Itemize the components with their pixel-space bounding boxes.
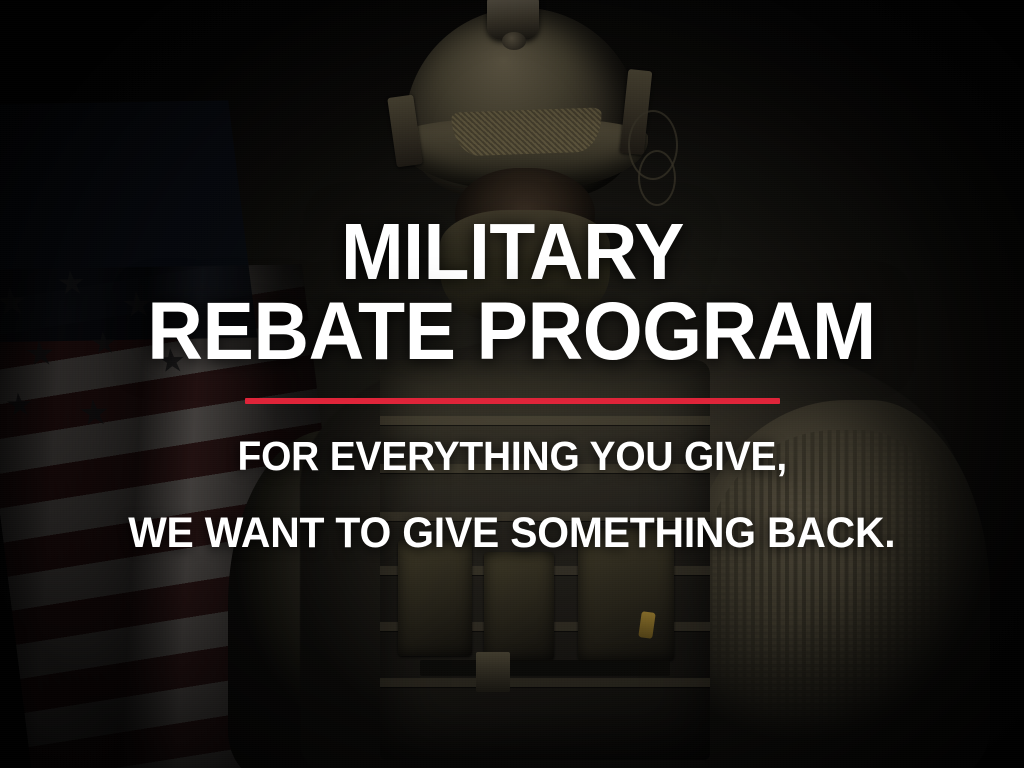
military-rebate-program-poster: MILITARY REBATE PROGRAM FOR EVERYTHING Y… — [0, 0, 1024, 768]
red-divider-rule — [245, 398, 780, 404]
subhead-line-2: WE WANT TO GIVE SOMETHING BACK. — [128, 508, 895, 559]
poster-text-overlay: MILITARY REBATE PROGRAM FOR EVERYTHING Y… — [0, 0, 1024, 768]
headline-line-1: MILITARY — [341, 214, 684, 291]
headline-line-2: REBATE PROGRAM — [148, 293, 877, 372]
subhead-line-1: FOR EVERYTHING YOU GIVE, — [237, 432, 787, 480]
